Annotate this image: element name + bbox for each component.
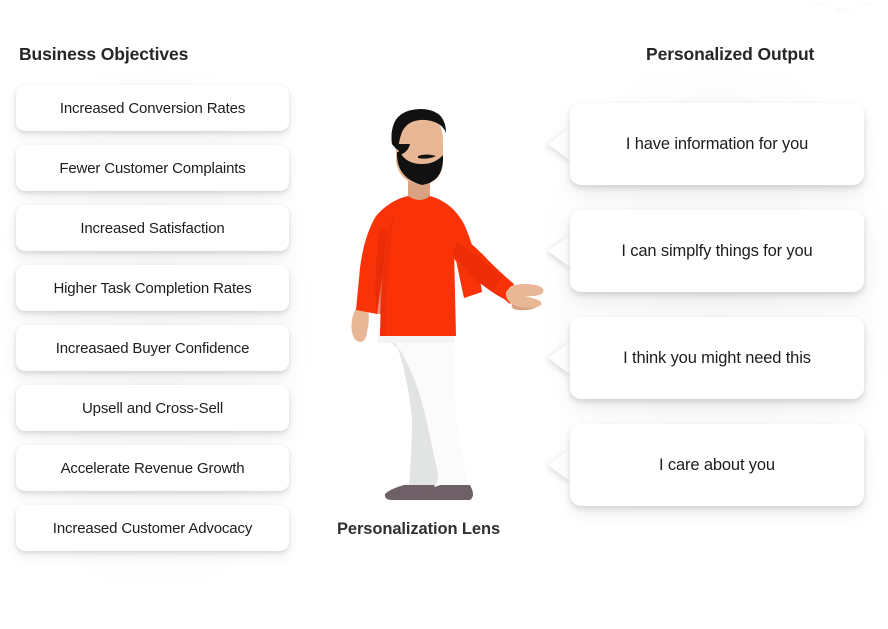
speech-tail-icon — [548, 341, 571, 375]
objective-item[interactable]: Upsell and Cross-Sell — [16, 385, 289, 431]
output-bubble[interactable]: I care about you — [548, 424, 886, 506]
speech-tail-icon — [548, 127, 571, 161]
business-objectives-list: Increased Conversion Rates Fewer Custome… — [16, 85, 289, 565]
standing-person-illustration — [330, 100, 545, 500]
output-bubble-body[interactable]: I can simplfy things for you — [570, 210, 864, 292]
objective-label: Accelerate Revenue Growth — [61, 460, 245, 477]
objective-item[interactable]: Higher Task Completion Rates — [16, 265, 289, 311]
business-objectives-heading: Business Objectives — [19, 44, 188, 65]
output-bubble-text: I think you might need this — [623, 349, 811, 368]
objective-item[interactable]: Increased Satisfaction — [16, 205, 289, 251]
watermark-icon — [806, 0, 880, 14]
objective-label: Higher Task Completion Rates — [53, 280, 251, 297]
output-bubble-body[interactable]: I have information for you — [570, 103, 864, 185]
output-bubble-text: I have information for you — [626, 135, 808, 154]
speech-tail-icon — [548, 448, 571, 482]
output-bubble[interactable]: I can simplfy things for you — [548, 210, 886, 292]
personalized-output-list: I have information for you I can simplfy… — [548, 103, 886, 531]
output-bubble-body[interactable]: I think you might need this — [570, 317, 864, 399]
output-bubble-text: I care about you — [659, 456, 775, 475]
objective-item[interactable]: Increased Conversion Rates — [16, 85, 289, 131]
objective-label: Increasaed Buyer Confidence — [56, 340, 250, 357]
objective-item[interactable]: Fewer Customer Complaints — [16, 145, 289, 191]
objective-label: Increased Conversion Rates — [60, 100, 245, 117]
output-bubble-body[interactable]: I care about you — [570, 424, 864, 506]
objective-label: Fewer Customer Complaints — [59, 160, 245, 177]
objective-label: Increased Customer Advocacy — [53, 520, 252, 537]
objective-label: Upsell and Cross-Sell — [82, 400, 223, 417]
personalized-output-heading: Personalized Output — [646, 44, 814, 65]
output-bubble-text: I can simplfy things for you — [621, 242, 812, 261]
objective-label: Increased Satisfaction — [80, 220, 224, 237]
personalization-lens-caption: Personalization Lens — [337, 520, 500, 539]
output-bubble[interactable]: I have information for you — [548, 103, 886, 185]
speech-tail-icon — [548, 234, 571, 268]
output-bubble[interactable]: I think you might need this — [548, 317, 886, 399]
objective-item[interactable]: Increased Customer Advocacy — [16, 505, 289, 551]
objective-item[interactable]: Increasaed Buyer Confidence — [16, 325, 289, 371]
objective-item[interactable]: Accelerate Revenue Growth — [16, 445, 289, 491]
